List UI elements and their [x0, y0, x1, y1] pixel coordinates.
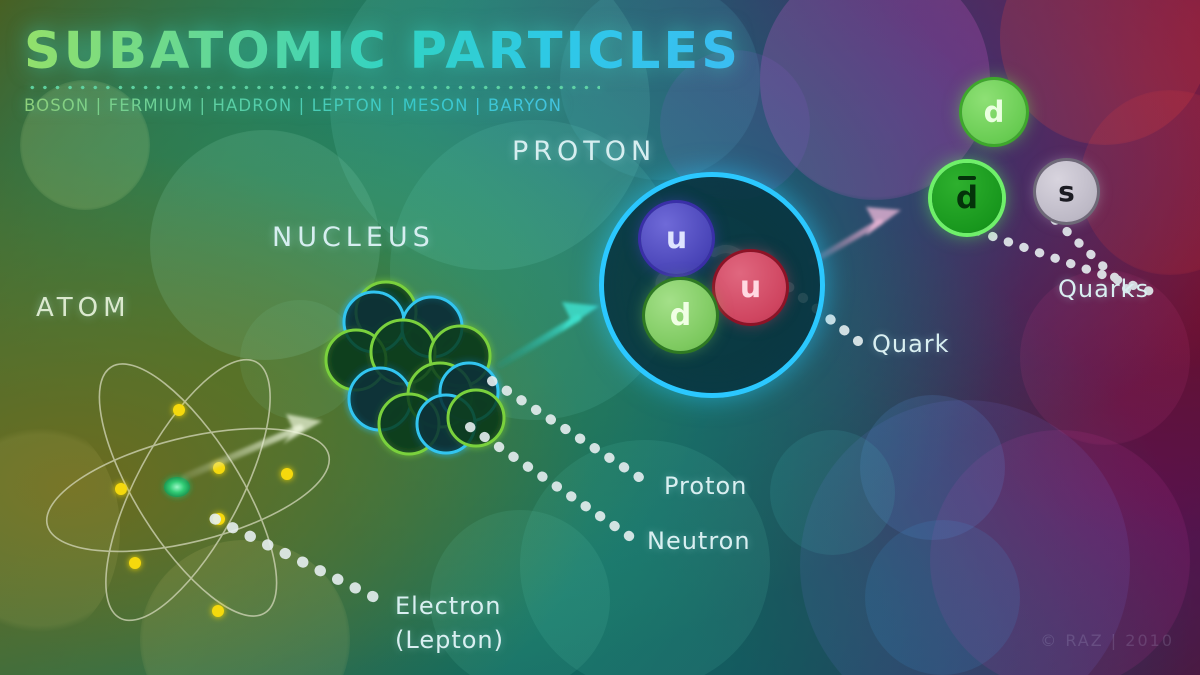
- quark-down-green: d: [645, 280, 716, 351]
- electron: [173, 404, 185, 416]
- arrow-proton-to-quarks: [812, 207, 901, 262]
- quark-down: d: [962, 80, 1026, 144]
- leader-neutron: [470, 427, 632, 538]
- quark-symbol: s: [1058, 178, 1075, 206]
- callout-label-electron-line1: Electron: [395, 589, 504, 623]
- electron: [281, 468, 293, 480]
- nucleus-cluster: [326, 282, 504, 454]
- quark-anti-down: d: [932, 163, 1002, 233]
- quark-symbol: d: [984, 98, 1005, 127]
- leader-proton: [492, 381, 648, 483]
- watermark: © RAZ | 2010: [1040, 631, 1174, 650]
- callout-label-quark: Quark: [872, 330, 950, 358]
- callout-label-proton: Proton: [664, 472, 747, 500]
- callout-label-electron-line2: (Lepton): [395, 623, 504, 657]
- quark-up-red: u: [715, 252, 786, 323]
- quark-up-blue: u: [641, 203, 712, 274]
- leader-electron: [215, 519, 388, 604]
- proton-shell: [599, 172, 825, 398]
- quark-symbol: d: [956, 183, 978, 214]
- callout-label-neutron: Neutron: [647, 527, 751, 555]
- antiparticle-overbar: [958, 176, 977, 180]
- electron: [129, 557, 141, 569]
- arrow-nucleus-to-proton: [500, 302, 599, 365]
- section-label-proton: PROTON: [512, 136, 656, 167]
- electron: [212, 605, 224, 617]
- nucleon-neutron: [448, 390, 504, 446]
- electron: [115, 483, 127, 495]
- section-label-nucleus: NUCLEUS: [272, 222, 435, 253]
- section-label-atom: ATOM: [36, 293, 131, 323]
- callout-label-quarks: Quarks: [1058, 275, 1149, 303]
- infographic-canvas: SUBATOMIC PARTICLES BOSON | FERMIUM | HA…: [0, 0, 1200, 675]
- electron-dots: [115, 404, 293, 617]
- quark-symbol: d: [670, 301, 691, 331]
- callout-label-electron: Electron (Lepton): [395, 589, 504, 657]
- quark-symbol: u: [666, 224, 687, 254]
- quark-symbol: u: [740, 273, 761, 303]
- quark-strange: s: [1036, 161, 1097, 222]
- arrow-atom-to-nucleus: [185, 414, 322, 477]
